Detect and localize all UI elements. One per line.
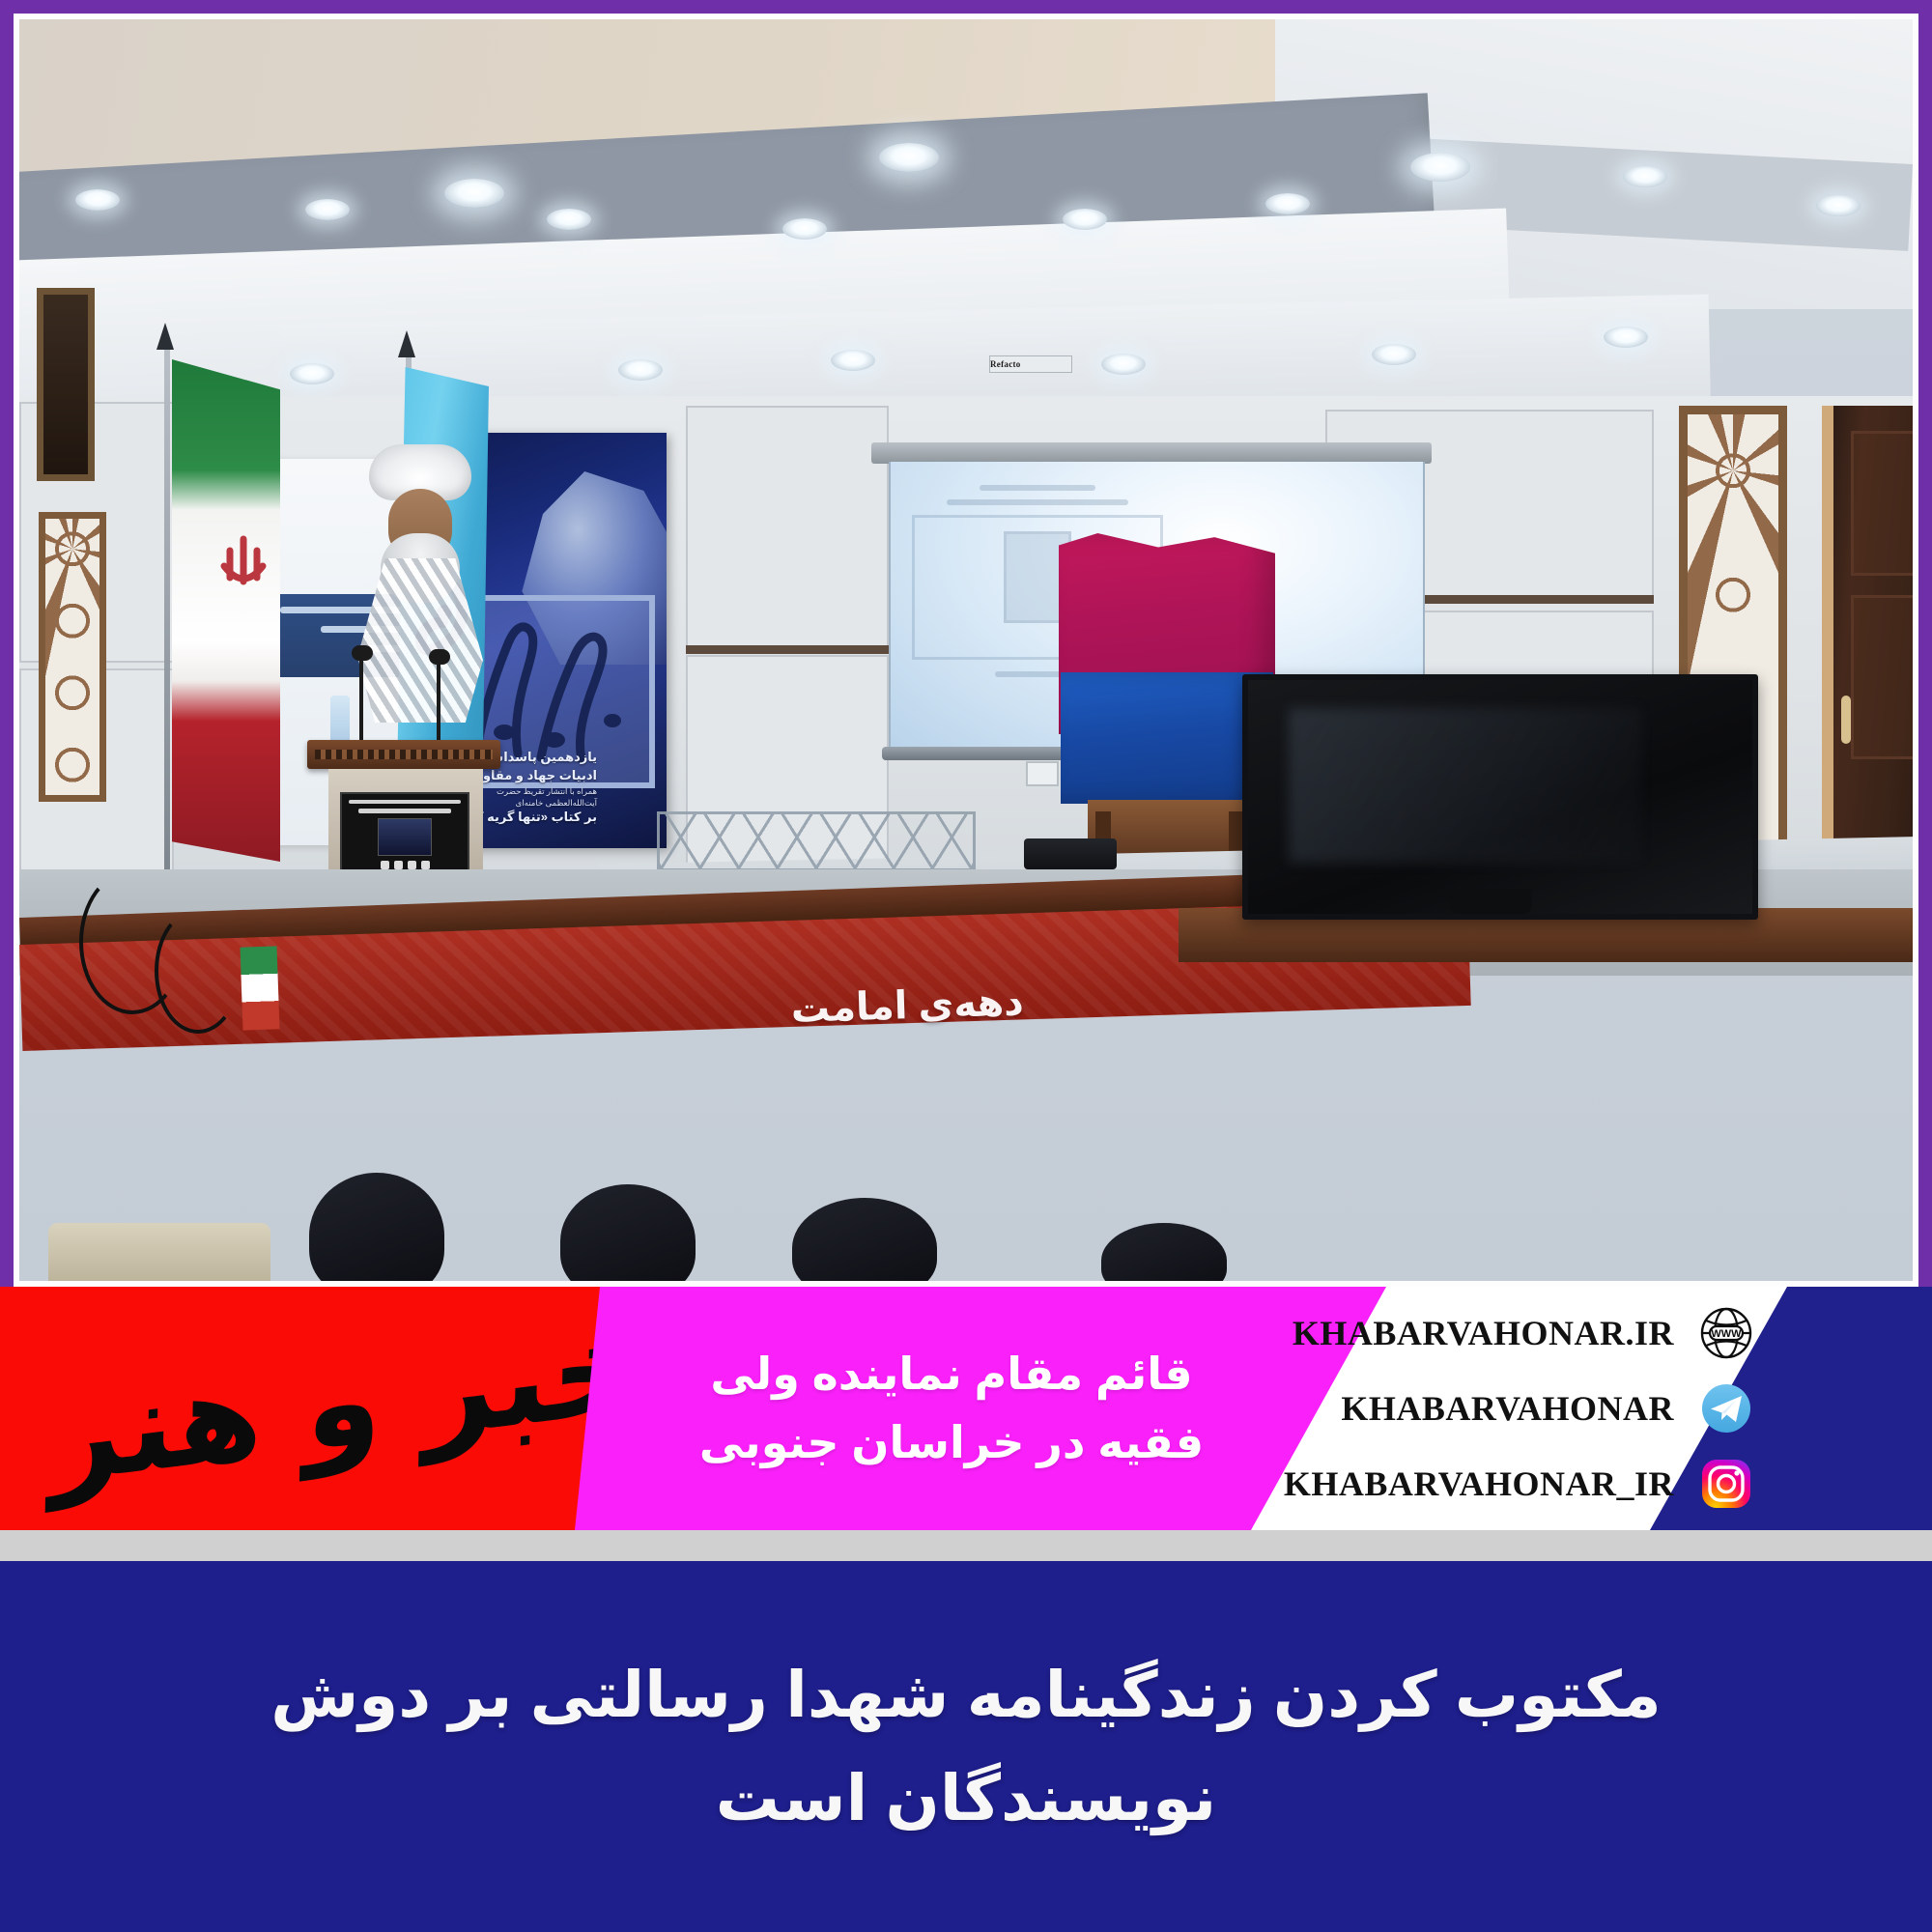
svg-text:WWW: WWW [1711, 1328, 1742, 1340]
handle-row-instagram[interactable]: KHABARVAHONAR_IR [1251, 1457, 1753, 1511]
door-panel [1851, 431, 1913, 576]
iran-emblem-icon [216, 533, 270, 593]
projector-brand-label: Refacto [989, 355, 1072, 373]
podium-top [307, 740, 500, 769]
ceiling-lamp-icon [75, 189, 120, 211]
headline-bar: مکتوب کردن زندگینامه شهدا رسالتی بر دوش … [0, 1561, 1932, 1932]
ceiling-lamp-icon [879, 143, 939, 172]
wall-panel [686, 406, 889, 647]
ceiling-lamp-icon [831, 350, 875, 371]
ceiling-lamp-icon [1101, 354, 1146, 375]
website-url-text: KHABARVAHONAR.IR [1293, 1313, 1674, 1353]
microphone-head-icon [429, 649, 450, 665]
instagram-icon[interactable] [1699, 1457, 1753, 1511]
news-card: Refacto [0, 0, 1932, 1932]
handle-row-website[interactable]: KHABARVAHONAR.IR WWW [1251, 1306, 1753, 1360]
ceiling-lamp-icon [1623, 166, 1667, 187]
audience-head [792, 1198, 937, 1281]
stage-truss-structure [657, 811, 976, 871]
ceiling-lamp-icon [1372, 344, 1416, 365]
ceiling-lamp-icon [547, 209, 591, 230]
microphone-stem [437, 661, 440, 742]
stage-equipment-box [1024, 838, 1117, 869]
handle-row-telegram[interactable]: KHABARVAHONAR [1251, 1381, 1753, 1435]
podium-poster [340, 792, 469, 871]
wall-trim [686, 645, 889, 654]
audience-row [19, 1155, 1913, 1281]
speaker-person [328, 444, 502, 753]
tv-screen-glare [1289, 708, 1641, 863]
ceiling-lamp-icon [290, 363, 334, 384]
headline-text: مکتوب کردن زندگینامه شهدا رسالتی بر دوش … [261, 1643, 1671, 1850]
audience-chair [48, 1223, 270, 1281]
floor-cable [155, 908, 241, 1034]
audience-head [560, 1184, 696, 1281]
event-photo: Refacto [19, 19, 1913, 1281]
globe-www-icon[interactable]: WWW [1699, 1306, 1753, 1360]
tv-monitor [1242, 674, 1758, 920]
door-panel [1851, 595, 1913, 759]
subtitle-line-2: فقیه در خراسان جنوبی [699, 1408, 1204, 1477]
grey-divider [0, 1530, 1932, 1561]
small-iran-flag [241, 946, 280, 1030]
ceiling-lamp-icon [618, 359, 663, 381]
ceiling-lamp-icon [1816, 195, 1861, 216]
telegram-handle-text: KHABARVAHONAR [1341, 1388, 1674, 1429]
telegram-icon[interactable] [1699, 1381, 1753, 1435]
social-handles-list: KHABARVAHONAR.IR WWW KHABARVAHONAR [1251, 1287, 1753, 1530]
wall-power-socket [1026, 761, 1059, 786]
ceiling-lamp-icon [1410, 153, 1470, 182]
iran-flag [172, 359, 280, 862]
lattice-screen-panel [39, 512, 106, 802]
tv-stand [1449, 889, 1532, 914]
brand-bar: خبر و هنر قائم مقام نماینده ولی فقیه در … [0, 1287, 1932, 1530]
flag-pole [164, 348, 170, 889]
ceiling-lamp-icon [1265, 193, 1310, 214]
ceiling-lamp-icon [782, 218, 827, 240]
flag-finial-icon [156, 323, 174, 350]
brand-logo-calligraphy: خبر و هنر [50, 1293, 640, 1511]
door-handle-icon[interactable] [1841, 696, 1851, 744]
microphone-head-icon [352, 645, 373, 661]
photo-inner-border: Refacto [14, 14, 1918, 1287]
table-blue-drape [1061, 672, 1273, 804]
ceiling-lamp-icon [1604, 327, 1648, 348]
instagram-handle-text: KHABARVAHONAR_IR [1284, 1463, 1674, 1504]
photo-frame: Refacto [0, 0, 1932, 1287]
flag-finial-icon [398, 330, 415, 357]
wall-picture-frame [37, 288, 95, 481]
projector-screen-housing [871, 442, 1432, 464]
subtitle-line-1: قائم مقام نماینده ولی [699, 1340, 1204, 1408]
audience-head [1101, 1223, 1227, 1281]
speaker-keffiyeh-scarf [357, 558, 483, 723]
ceiling-lamp-icon [1063, 209, 1107, 230]
audience-head [309, 1173, 444, 1281]
microphone-stem [359, 657, 363, 744]
ceiling-lamp-icon [444, 179, 504, 208]
subtitle-text: قائم مقام نماینده ولی فقیه در خراسان جنو… [699, 1340, 1204, 1478]
ceiling-lamp-icon [305, 199, 350, 220]
